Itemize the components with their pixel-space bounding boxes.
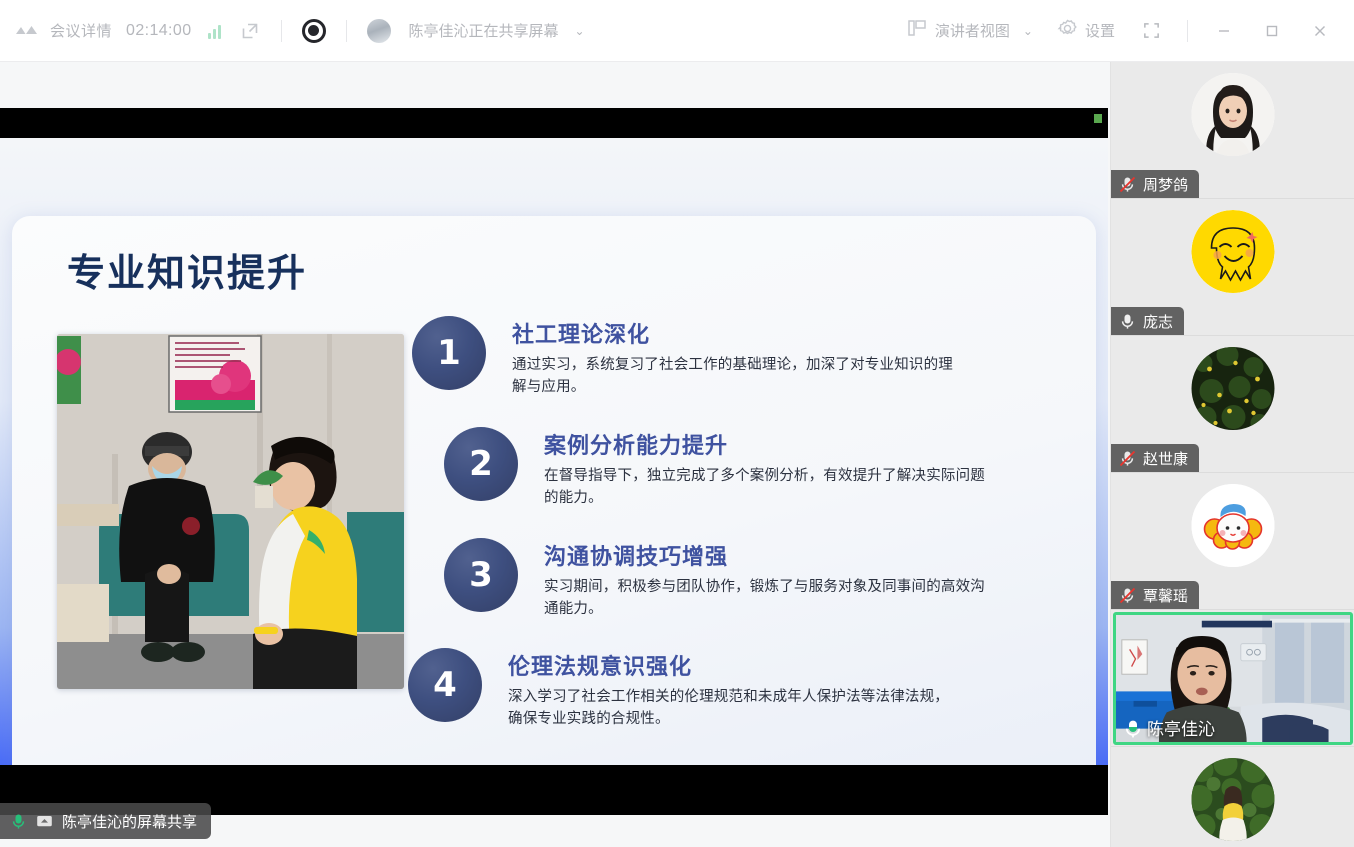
participant-nametag: 周梦鸽	[1111, 170, 1199, 198]
divider	[346, 20, 347, 42]
participant-tile[interactable]: 赵世康	[1111, 336, 1354, 473]
participant-name: 陈亭佳沁	[1147, 715, 1215, 740]
participant-tile[interactable]	[1111, 747, 1354, 847]
list-item: 2 案例分析能力提升 在督导指导下，独立完成了多个案例分析，有效提升了解决实际问…	[444, 427, 985, 510]
fullscreen-icon[interactable]	[1129, 11, 1173, 51]
participant-nametag: 赵世康	[1111, 444, 1199, 472]
avatar	[1192, 484, 1275, 567]
letterbox-top	[0, 108, 1108, 138]
item-number-badge: 4	[408, 648, 482, 722]
participant-name: 覃馨瑶	[1143, 585, 1188, 606]
item-title: 沟通协调技巧增强	[544, 539, 985, 571]
minimize-icon[interactable]	[1202, 11, 1246, 51]
participant-tile[interactable]: 庞志	[1111, 199, 1354, 336]
recording-indicator-icon[interactable]	[302, 19, 326, 43]
participant-name: 赵世康	[1143, 448, 1188, 469]
participant-rail[interactable]: 周梦鸽	[1110, 62, 1354, 847]
screen-share-badge: 陈亭佳沁的屏幕共享	[0, 803, 211, 839]
item-number-badge: 2	[444, 427, 518, 501]
avatar	[1192, 758, 1275, 841]
avatar	[1192, 73, 1275, 156]
item-description: 在督导指导下，独立完成了多个案例分析，有效提升了解决实际问题 的能力。	[544, 465, 985, 510]
chevron-down-icon[interactable]: ⌄	[575, 24, 585, 38]
presenter-view-button[interactable]: 演讲者视图 ⌄	[896, 12, 1043, 49]
presenter-view-label: 演讲者视图	[935, 20, 1010, 41]
participant-tile-active[interactable]: 陈亭佳沁	[1111, 610, 1354, 747]
settings-label: 设置	[1085, 20, 1115, 41]
microphone-on-icon	[1119, 313, 1136, 330]
participant-nametag: 陈亭佳沁	[1115, 713, 1226, 741]
item-description: 通过实习，系统复习了社会工作的基础理论，加深了对专业知识的理 解与应用。	[512, 354, 953, 399]
list-item: 3 沟通协调技巧增强 实习期间，积极参与团队协作，锻炼了与服务对象及同事间的高效…	[444, 538, 985, 621]
participant-name: 庞志	[1143, 311, 1173, 332]
external-link-icon[interactable]	[239, 20, 261, 42]
chevron-down-icon: ⌄	[1023, 24, 1033, 38]
divider	[281, 20, 282, 42]
microphone-muted-icon	[1119, 176, 1136, 193]
item-number-badge: 1	[412, 316, 486, 390]
divider	[1187, 20, 1188, 42]
gear-icon	[1057, 18, 1078, 44]
maximize-icon[interactable]	[1250, 11, 1294, 51]
presentation-slide: 专业知识提升	[0, 138, 1108, 765]
microphone-muted-icon	[1119, 450, 1136, 467]
title-bar-left: 会议详情 02:14:00 陈亭佳沁正在共享屏幕 ⌄	[0, 18, 585, 44]
screen-share-label: 陈亭佳沁的屏幕共享	[62, 811, 197, 832]
shared-screen-stage[interactable]: 专业知识提升	[0, 62, 1108, 847]
participant-tile[interactable]: 覃馨瑶	[1111, 473, 1354, 610]
title-bar-right: 演讲者视图 ⌄ 设置	[896, 11, 1354, 51]
slide-card: 专业知识提升	[12, 216, 1096, 765]
item-title: 案例分析能力提升	[544, 428, 985, 460]
share-active-marker-icon	[1094, 114, 1102, 123]
item-description: 深入学习了社会工作相关的伦理规范和未成年人保护法等法律法规， 确保专业实践的合规…	[508, 686, 949, 731]
list-item: 4 伦理法规意识强化 深入学习了社会工作相关的伦理规范和未成年人保护法等法律法规…	[408, 648, 949, 731]
list-item: 1 社工理论深化 通过实习，系统复习了社会工作的基础理论，加深了对专业知识的理 …	[412, 316, 953, 399]
close-icon[interactable]	[1298, 11, 1342, 51]
meeting-timer: 02:14:00	[126, 22, 191, 40]
avatar	[1192, 347, 1275, 430]
meeting-logo-icon	[14, 18, 40, 44]
item-title: 伦理法规意识强化	[508, 649, 949, 681]
slide-items: 1 社工理论深化 通过实习，系统复习了社会工作的基础理论，加深了对专业知识的理 …	[12, 216, 1096, 765]
sharing-status-label: 陈亭佳沁正在共享屏幕	[409, 20, 559, 41]
item-description: 实习期间，积极参与团队协作，锻炼了与服务对象及同事间的高效沟 通能力。	[544, 576, 985, 621]
microphone-on-icon	[10, 813, 27, 830]
meeting-details-label[interactable]: 会议详情	[50, 20, 112, 41]
network-signal-icon[interactable]	[208, 23, 221, 39]
avatar	[1192, 210, 1275, 293]
item-title: 社工理论深化	[512, 317, 953, 349]
presenter-view-icon	[906, 18, 928, 43]
meeting-window: 会议详情 02:14:00 陈亭佳沁正在共享屏幕 ⌄	[0, 0, 1354, 847]
participant-tile[interactable]: 周梦鸽	[1111, 62, 1354, 199]
microphone-muted-icon	[1119, 587, 1136, 604]
settings-button[interactable]: 设置	[1047, 12, 1125, 50]
microphone-on-icon	[1123, 719, 1140, 736]
screen-share-icon	[36, 813, 53, 830]
participant-name: 周梦鸽	[1143, 174, 1188, 195]
title-bar: 会议详情 02:14:00 陈亭佳沁正在共享屏幕 ⌄	[0, 0, 1354, 62]
avatar	[367, 19, 391, 43]
participant-nametag: 庞志	[1111, 307, 1184, 335]
item-number-badge: 3	[444, 538, 518, 612]
participant-nametag: 覃馨瑶	[1111, 581, 1199, 609]
